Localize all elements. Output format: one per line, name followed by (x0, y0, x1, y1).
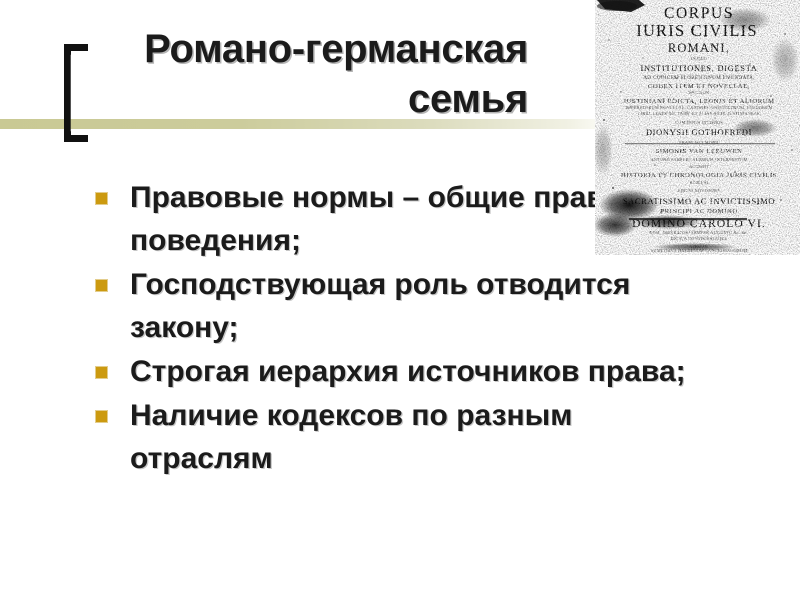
list-item-label: Строгая иерархия источников права; (130, 350, 692, 393)
svg-text:ROMANI,: ROMANI, (668, 41, 730, 55)
svg-text:PRINCIPI AC DOMINO: PRINCIPI AC DOMINO (660, 208, 737, 215)
slide-canvas: Романо-германская семья Правовые нормы –… (0, 0, 800, 600)
list-item-label: Наличие кодексов по разным отраслям (130, 394, 692, 480)
svg-text:DICATA CONSECRATAQUE: DICATA CONSECRATAQUE (671, 236, 728, 241)
frontispiece-engraving: CORPUS IURIS CIVILIS ROMANI, IN QUO INST… (595, 0, 800, 255)
square-bullet-icon (95, 410, 108, 423)
svg-text:EDITIO NOVISSIMA: EDITIO NOVISSIMA (678, 188, 721, 193)
svg-text:IN QUO: IN QUO (691, 56, 707, 61)
svg-text:AD CODICEM FLORENTINUM EMENDAT: AD CODICEM FLORENTINUM EMENDATA, (643, 75, 755, 81)
title-line-1: Романо-германская (80, 24, 528, 74)
svg-text:ROM. IMPERATORI SEMPER AUGUSTO: ROM. IMPERATORI SEMPER AUGUSTO &c. &c. (649, 230, 748, 235)
square-bullet-icon (95, 279, 108, 292)
svg-text:NEC NON: NEC NON (689, 90, 709, 95)
svg-text:HISTORIA ET CHRONOLOGIA JURIS: HISTORIA ET CHRONOLOGIA JURIS CIVILIS (621, 172, 777, 179)
page-title: Романо-германская семья (80, 24, 528, 124)
svg-text:CUM NOTIS INTEGRIS: CUM NOTIS INTEGRIS (675, 120, 723, 125)
svg-text:CODEX ITEM ET NOVELLAE,: CODEX ITEM ET NOVELLAE, (648, 83, 750, 90)
title-line-2: семья (80, 74, 528, 124)
square-bullet-icon (95, 192, 108, 205)
svg-text:INSTITUTIONES, DIGESTA: INSTITUTIONES, DIGESTA (640, 64, 757, 73)
svg-text:JUSTINIANI EDICTA, LEONIS ET A: JUSTINIANI EDICTA, LEONIS ET ALIORUM (623, 98, 774, 105)
svg-text:SIMONIS VAN LEEUWEN: SIMONIS VAN LEEUWEN (656, 148, 743, 155)
corpus-iuris-civilis-image: CORPUS IURIS CIVILIS ROMANI, IN QUO INST… (595, 0, 800, 255)
svg-text:ACCEDIT: ACCEDIT (689, 164, 709, 169)
list-item: Господствующая роль отводится закону; (92, 263, 692, 349)
svg-text:ANTONII FABRI ET ALIORUM INTER: ANTONII FABRI ET ALIORUM INTERPRETUM (651, 157, 748, 162)
square-bullet-icon (95, 366, 108, 379)
list-item-label: Господствующая роль отводится закону; (130, 263, 692, 349)
list-item: Строгая иерархия источников права; (92, 350, 692, 393)
svg-text:ROMANI: ROMANI (690, 180, 709, 185)
list-item: Наличие кодексов по разным отраслям (92, 394, 692, 480)
